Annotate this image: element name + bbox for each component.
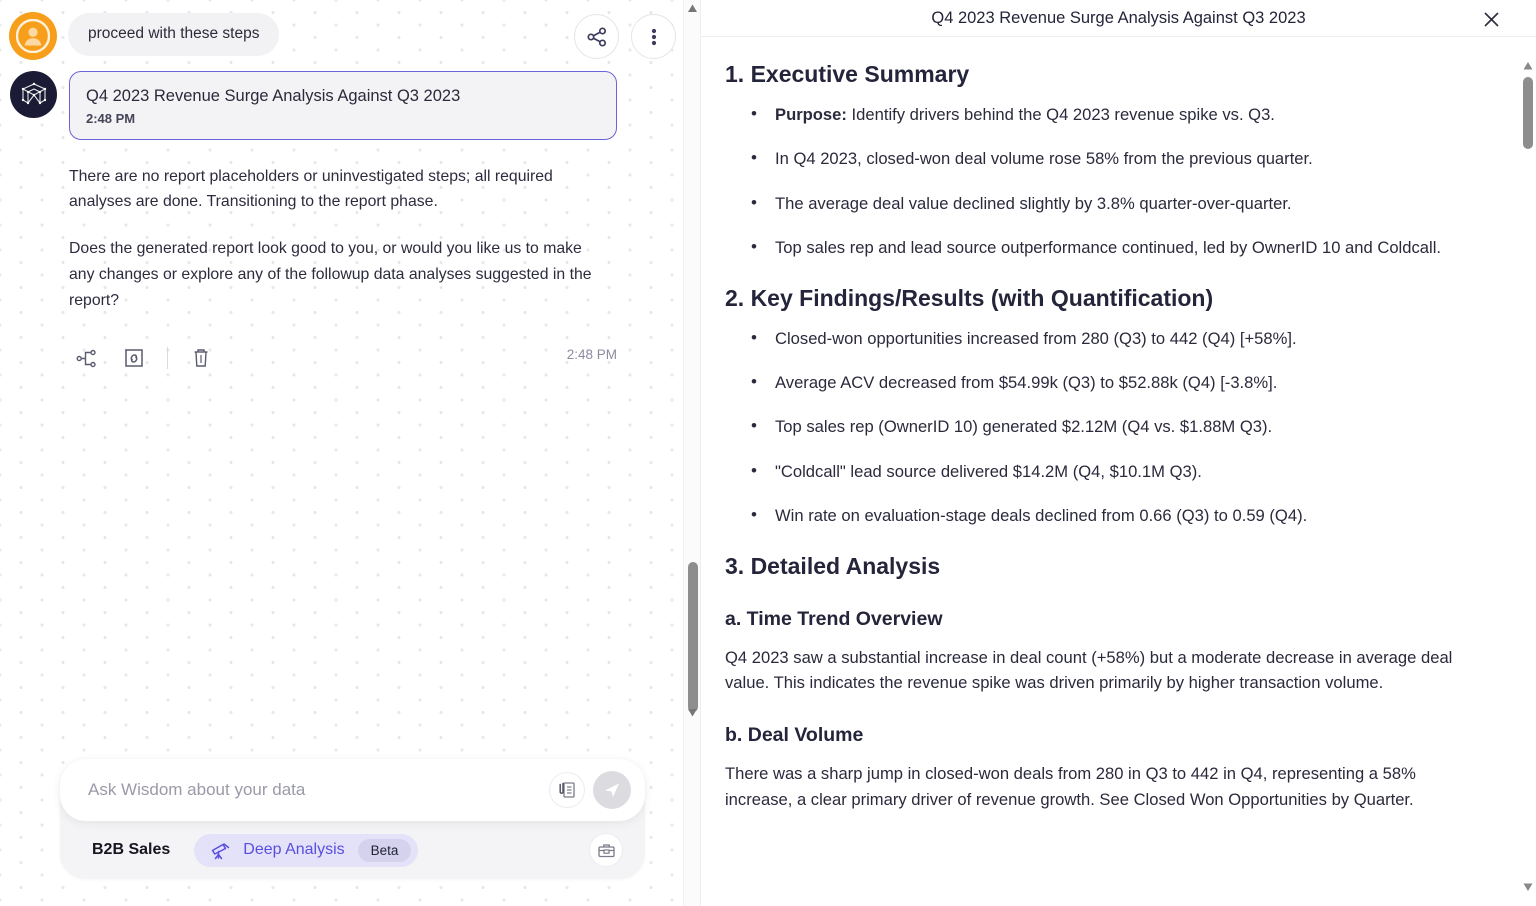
list-item: Win rate on evaluation-stage deals decli…: [749, 505, 1486, 527]
message-timestamp: 2:48 PM: [567, 347, 617, 362]
bullet-bold-label: Purpose:: [775, 105, 847, 124]
list-item: Top sales rep and lead source outperform…: [749, 237, 1486, 259]
report-scroll-down-arrow-icon[interactable]: [1523, 882, 1533, 892]
assistant-message-text: There are no report placeholders or unin…: [69, 164, 599, 314]
scroll-down-arrow-icon[interactable]: [687, 707, 698, 718]
assistant-paragraph-1: There are no report placeholders or unin…: [69, 164, 599, 215]
chat-scrollbar-thumb[interactable]: [688, 562, 698, 712]
report-card-time: 2:48 PM: [86, 111, 600, 126]
attachment-button[interactable]: [549, 772, 585, 808]
assistant-paragraph-2: Does the generated report look good to y…: [69, 236, 599, 313]
chat-scrollbar[interactable]: [683, 0, 700, 906]
branch-button[interactable]: [69, 343, 103, 373]
close-icon: [1483, 11, 1500, 28]
person-icon: [16, 19, 50, 53]
chat-input[interactable]: [88, 780, 549, 800]
user-message-row: proceed with these steps: [0, 0, 700, 59]
composer-footer: B2B Sales Deep Analysis Beta: [60, 821, 645, 879]
copy-link-icon: [123, 347, 145, 369]
list-item: In Q4 2023, closed-won deal volume rose …: [749, 148, 1486, 170]
delete-icon: [191, 347, 211, 369]
list-item: Purpose: Identify drivers behind the Q4 …: [749, 104, 1486, 126]
dataset-label: B2B Sales: [92, 841, 170, 859]
send-icon: [602, 780, 622, 800]
report-body: 1. Executive Summary Purpose: Identify d…: [701, 37, 1536, 906]
share-icon: [586, 26, 608, 48]
key-findings-heading: 2. Key Findings/Results (with Quantifica…: [725, 285, 1486, 312]
report-card-title: Q4 2023 Revenue Surge Analysis Against Q…: [86, 86, 600, 107]
beta-badge: Beta: [358, 839, 412, 862]
list-item: Top sales rep (OwnerID 10) generated $2.…: [749, 416, 1486, 438]
report-scrollbar-thumb[interactable]: [1523, 77, 1533, 149]
detailed-analysis-heading: 3. Detailed Analysis: [725, 553, 1486, 580]
more-options-icon: [651, 26, 657, 48]
deep-analysis-label: Deep Analysis: [243, 841, 344, 859]
assistant-avatar: [10, 71, 57, 118]
report-scroll-up-arrow-icon[interactable]: [1523, 61, 1533, 71]
more-options-button[interactable]: [631, 14, 676, 59]
wisdom-logo-icon: [17, 78, 51, 112]
executive-summary-list: Purpose: Identify drivers behind the Q4 …: [749, 104, 1486, 260]
assistant-message-row: Q4 2023 Revenue Surge Analysis Against Q…: [0, 59, 700, 373]
scroll-up-arrow-icon[interactable]: [687, 3, 698, 14]
delete-button[interactable]: [184, 343, 218, 373]
list-item: "Coldcall" lead source delivered $14.2M …: [749, 461, 1486, 483]
list-item: Closed-won opportunities increased from …: [749, 328, 1486, 350]
copy-link-button[interactable]: [117, 343, 151, 373]
close-report-button[interactable]: [1480, 8, 1502, 30]
composer-shell: B2B Sales Deep Analysis Beta: [60, 759, 645, 879]
key-findings-list: Closed-won opportunities increased from …: [749, 328, 1486, 528]
report-panel: Q4 2023 Revenue Surge Analysis Against Q…: [700, 0, 1536, 906]
workspace-button[interactable]: [589, 833, 623, 867]
deal-volume-text: There was a sharp jump in closed-won dea…: [725, 761, 1486, 812]
report-link-card[interactable]: Q4 2023 Revenue Surge Analysis Against Q…: [69, 71, 617, 140]
report-header: Q4 2023 Revenue Surge Analysis Against Q…: [701, 0, 1536, 37]
branch-icon: [76, 348, 97, 369]
share-button[interactable]: [574, 14, 619, 59]
bullet-text: Identify drivers behind the Q4 2023 reve…: [847, 105, 1275, 124]
report-scrollbar[interactable]: [1520, 37, 1536, 906]
deep-analysis-toggle[interactable]: Deep Analysis Beta: [194, 834, 418, 867]
executive-summary-heading: 1. Executive Summary: [725, 61, 1486, 88]
composer: B2B Sales Deep Analysis Beta: [60, 759, 645, 879]
send-button[interactable]: [593, 771, 631, 809]
telescope-icon: [210, 839, 232, 861]
user-message-text: proceed with these steps: [88, 25, 259, 42]
app-root: proceed with these steps: [0, 0, 1536, 906]
time-trend-text: Q4 2023 saw a substantial increase in de…: [725, 645, 1486, 696]
chat-panel: proceed with these steps: [0, 0, 700, 906]
message-action-bar: 2:48 PM: [69, 343, 617, 373]
attachment-document-icon: [557, 780, 577, 800]
user-avatar: [10, 13, 56, 59]
deal-volume-heading: b. Deal Volume: [725, 724, 1486, 747]
action-divider: [167, 347, 168, 369]
chat-top-actions: [574, 14, 676, 59]
assistant-content-column: Q4 2023 Revenue Surge Analysis Against Q…: [69, 71, 617, 373]
list-item: The average deal value declined slightly…: [749, 193, 1486, 215]
time-trend-heading: a. Time Trend Overview: [725, 608, 1486, 631]
composer-input-row: [60, 759, 645, 821]
list-item: Average ACV decreased from $54.99k (Q3) …: [749, 372, 1486, 394]
briefcase-icon: [597, 841, 616, 860]
report-title: Q4 2023 Revenue Surge Analysis Against Q…: [931, 9, 1305, 28]
user-message-bubble: proceed with these steps: [68, 13, 279, 56]
